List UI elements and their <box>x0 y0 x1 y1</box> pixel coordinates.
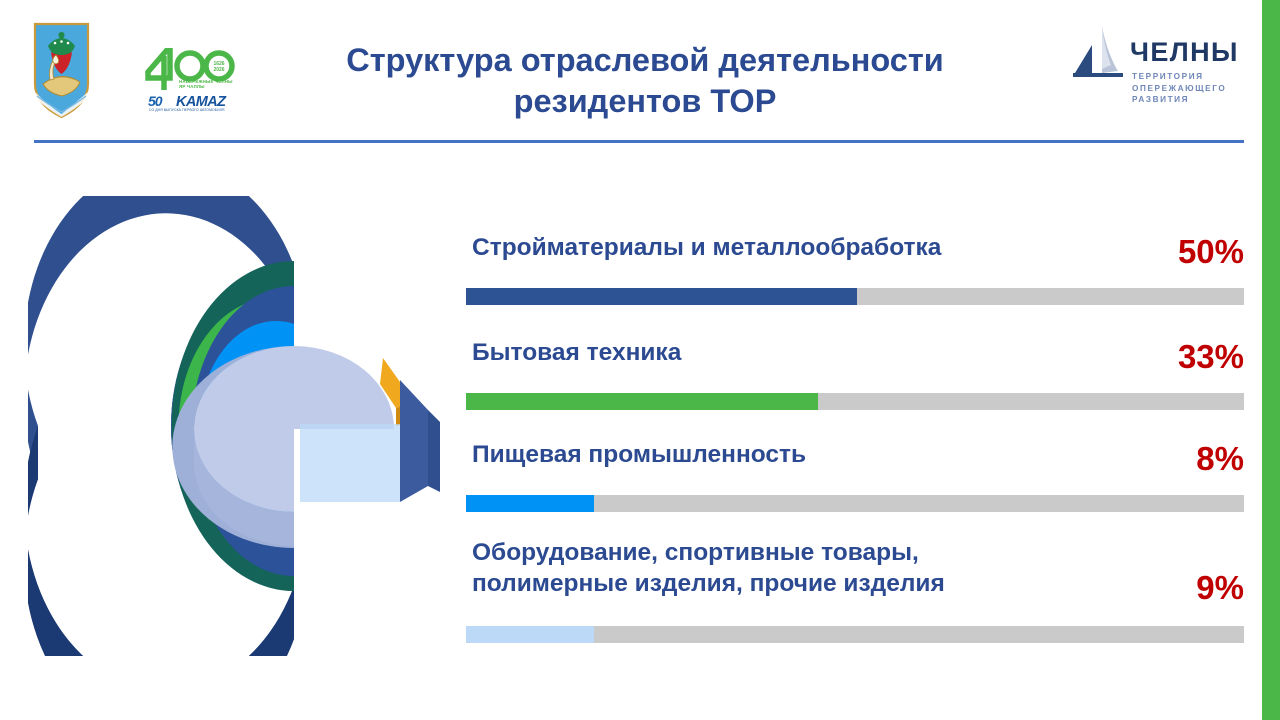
bar-row[interactable]: Оборудование, спортивные товары, полимер… <box>466 537 1244 647</box>
bar-value: 8% <box>1196 441 1244 477</box>
bar-row[interactable]: Бытовая техника 33% <box>466 337 1244 415</box>
bar-label: Бытовая техника <box>472 337 681 368</box>
slide-header: 1626 2026 НАБЕРЕЖНЫЕ ЧЕЛНЫЯР ЧАЛЛЫ 50 KA… <box>0 0 1262 148</box>
bar-fill <box>466 495 594 512</box>
right-edge-stripe <box>1262 0 1280 720</box>
bar-track <box>466 495 1244 512</box>
bar-track <box>466 393 1244 410</box>
bar-row[interactable]: Пищевая промышленность 8% <box>466 439 1244 517</box>
bar-fill <box>466 626 594 643</box>
bar-label: Оборудование, спортивные товары, полимер… <box>472 537 945 599</box>
bar-fill <box>466 393 818 410</box>
bar-value: 9% <box>1196 570 1244 606</box>
bar-track <box>466 288 1244 305</box>
chelny-brand-label: ЧЕЛНЫ <box>1130 39 1239 66</box>
bar-value: 50% <box>1178 234 1244 270</box>
kamaz-fifty-label: 50 <box>148 93 162 109</box>
bar-row[interactable]: Стройматериалы и металлообработка 50% <box>466 232 1244 310</box>
header-divider <box>34 140 1244 143</box>
logo-group-left: 1626 2026 НАБЕРЕЖНЫЕ ЧЕЛНЫЯР ЧАЛЛЫ 50 KA… <box>33 22 213 122</box>
anniversary-city-label: НАБЕРЕЖНЫЕ ЧЕЛНЫЯР ЧАЛЛЫ <box>179 79 233 90</box>
sail-icon <box>1072 25 1124 81</box>
industry-bar-list: Стройматериалы и металлообработка 50% Бы… <box>466 232 1244 652</box>
coat-of-arms-icon <box>33 22 90 119</box>
kamaz-subtitle: СО ДНЯ ВЫПУСКА ПЕРВОГО АВТОМОБИЛЯ <box>149 108 225 112</box>
chelny-tagline-label: ТЕРРИТОРИЯ ОПЕРЕЖАЮЩЕГО РАЗВИТИЯ <box>1132 71 1226 106</box>
bar-label: Пищевая промышленность <box>472 439 806 470</box>
kamaz-logo: 50 KAMAZ СО ДНЯ ВЫПУСКА ПЕРВОГО АВТОМОБИ… <box>148 93 237 111</box>
bar-value: 33% <box>1178 339 1244 375</box>
logo-group-right: ЧЕЛНЫ ТЕРРИТОРИЯ ОПЕРЕЖАЮЩЕГО РАЗВИТИЯ <box>1072 25 1234 109</box>
bar-fill <box>466 288 857 305</box>
svg-text:2026: 2026 <box>213 67 224 73</box>
bar-label: Стройматериалы и металлообработка <box>472 232 941 263</box>
anniversary-logo: 1626 2026 НАБЕРЕЖНЫЕ ЧЕЛНЫЯР ЧАЛЛЫ 50 KA… <box>145 48 237 120</box>
page-title: Структура отраслевой деятельности резиде… <box>250 40 1040 122</box>
donut-3d-chart-icon <box>28 196 458 656</box>
bar-track <box>466 626 1244 643</box>
